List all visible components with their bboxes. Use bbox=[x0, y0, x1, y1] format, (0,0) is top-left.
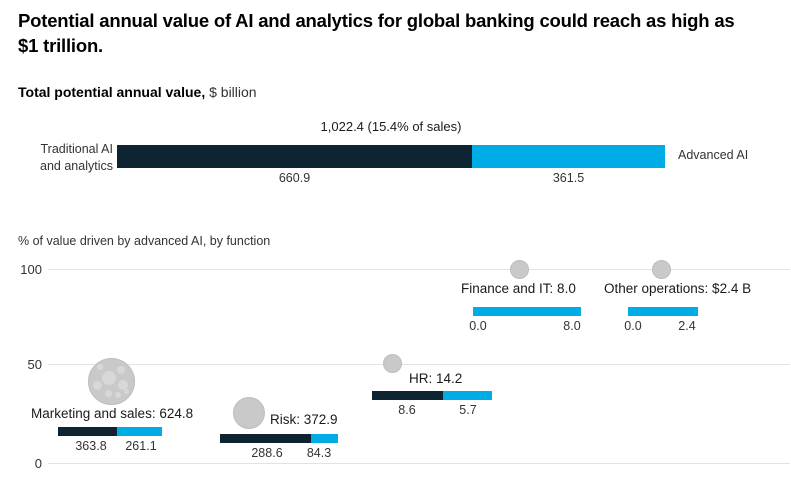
bar-segment-advanced-finance[interactable] bbox=[473, 307, 581, 316]
bubble-dot bbox=[105, 390, 112, 397]
gridline-50 bbox=[48, 364, 790, 365]
total-segment-traditional-ai[interactable] bbox=[117, 145, 472, 168]
bar-segment-advanced-risk[interactable] bbox=[311, 434, 338, 443]
bar-segment-advanced-marketing[interactable] bbox=[117, 427, 162, 436]
label-other-operations: Other operations: $2.4 B bbox=[604, 281, 751, 296]
chart-canvas: Potential annual value of AI and analyti… bbox=[0, 0, 791, 478]
value-advanced-finance: 8.0 bbox=[557, 319, 587, 333]
value-traditional-other: 0.0 bbox=[618, 319, 648, 333]
value-advanced-risk: 84.3 bbox=[300, 446, 338, 460]
bubble-marketing-and-sales[interactable] bbox=[88, 358, 135, 405]
bar-segment-advanced-other[interactable] bbox=[628, 307, 698, 316]
total-segment-advanced-ai[interactable] bbox=[472, 145, 665, 168]
y-axis-tick-50: 50 bbox=[18, 357, 42, 372]
bar-risk[interactable] bbox=[220, 434, 338, 443]
bubble-other-operations[interactable] bbox=[652, 260, 671, 279]
y-axis-tick-100: 100 bbox=[18, 262, 42, 277]
y-axis-tick-0: 0 bbox=[18, 456, 42, 471]
subtitle-text: Total potential annual value, bbox=[18, 84, 205, 100]
bubble-finance-and-it[interactable] bbox=[510, 260, 529, 279]
label-risk: Risk: 372.9 bbox=[270, 412, 338, 427]
bar-segment-advanced-hr[interactable] bbox=[443, 391, 492, 400]
total-value-advanced-ai: 361.5 bbox=[472, 171, 665, 185]
total-stacked-bar[interactable] bbox=[117, 145, 665, 168]
label-finance-and-it: Finance and IT: 8.0 bbox=[461, 281, 576, 296]
bubble-dot bbox=[102, 371, 116, 385]
total-bar-left-label: Traditional AI and analytics bbox=[18, 141, 113, 175]
total-value-traditional-ai: 660.9 bbox=[117, 171, 472, 185]
panel2-label: % of value driven by advanced AI, by fun… bbox=[18, 234, 270, 248]
gridline-0 bbox=[48, 463, 790, 464]
bar-finance-and-it[interactable] bbox=[473, 307, 581, 316]
bar-hr[interactable] bbox=[372, 391, 492, 400]
bubble-dot bbox=[124, 389, 129, 394]
label-hr: HR: 14.2 bbox=[409, 371, 462, 386]
label-marketing-and-sales: Marketing and sales: 624.8 bbox=[31, 406, 193, 421]
value-advanced-hr: 5.7 bbox=[453, 403, 483, 417]
bar-segment-traditional-marketing[interactable] bbox=[58, 427, 117, 436]
chart-title: Potential annual value of AI and analyti… bbox=[18, 8, 758, 58]
total-bar-right-label: Advanced AI bbox=[678, 148, 748, 162]
subtitle-unit: $ billion bbox=[209, 84, 256, 100]
bubble-dot bbox=[97, 364, 103, 370]
value-traditional-finance: 0.0 bbox=[463, 319, 493, 333]
bar-segment-traditional-risk[interactable] bbox=[220, 434, 311, 443]
gridline-100 bbox=[48, 269, 790, 270]
value-traditional-marketing: 363.8 bbox=[72, 439, 110, 453]
value-traditional-hr: 8.6 bbox=[392, 403, 422, 417]
chart-subtitle: Total potential annual value, $ billion bbox=[18, 84, 257, 100]
bubble-risk[interactable] bbox=[233, 397, 265, 429]
bubble-dot bbox=[117, 366, 125, 374]
total-value-annotation: 1,022.4 (15.4% of sales) bbox=[117, 119, 665, 134]
bar-marketing-and-sales[interactable] bbox=[58, 427, 162, 436]
value-advanced-marketing: 261.1 bbox=[122, 439, 160, 453]
bar-segment-traditional-hr[interactable] bbox=[372, 391, 443, 400]
value-advanced-other: 2.4 bbox=[672, 319, 702, 333]
bubble-hr[interactable] bbox=[383, 354, 402, 373]
value-traditional-risk: 288.6 bbox=[248, 446, 286, 460]
bubble-dot bbox=[93, 381, 102, 390]
bar-other-operations[interactable] bbox=[628, 307, 698, 316]
bubble-dot bbox=[115, 392, 121, 398]
